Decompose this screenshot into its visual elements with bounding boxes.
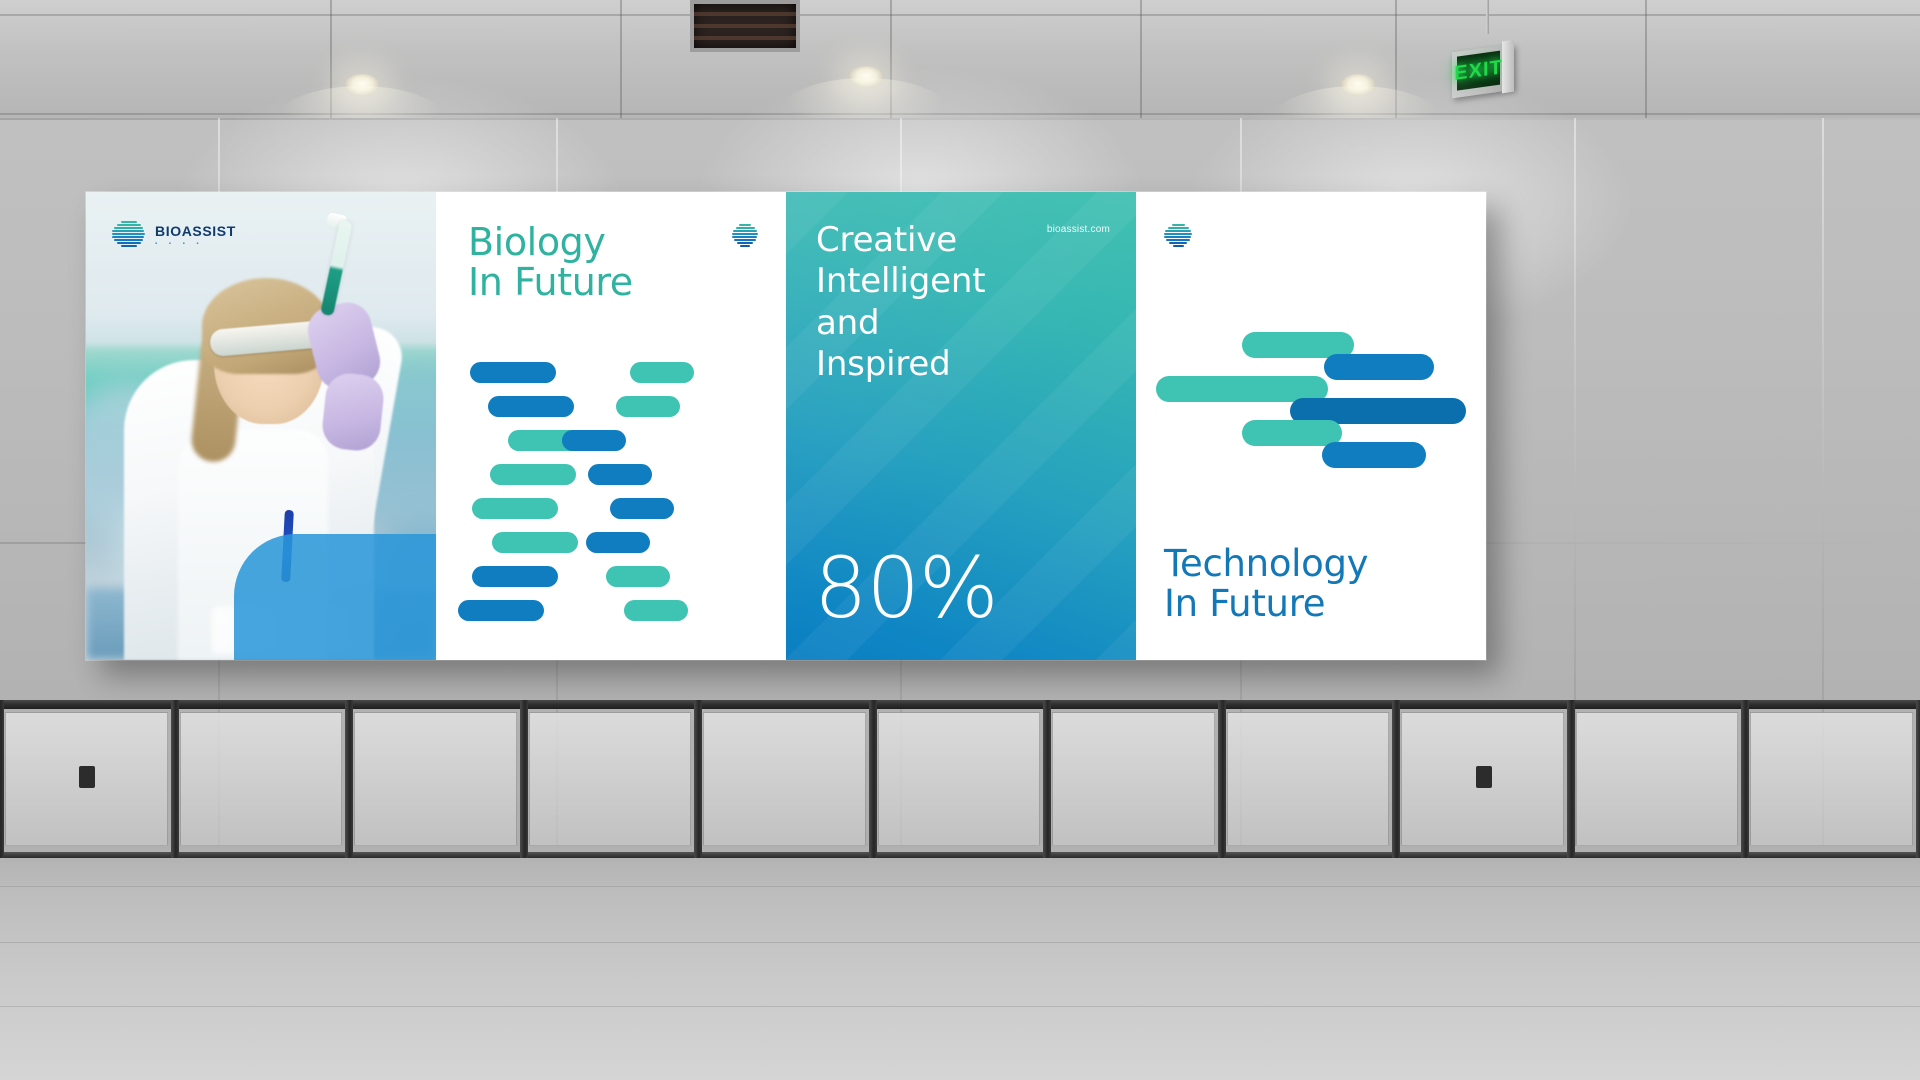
billboard[interactable]: BIOASSIST ▪ ▪ ▪ ▪ Biology In Future	[86, 192, 1486, 660]
railing-glass-panel	[354, 712, 517, 846]
railing-glass-panel	[1576, 712, 1739, 846]
railing-glass-panel	[878, 712, 1041, 846]
chart-bar	[472, 566, 558, 587]
chart-bar	[624, 600, 688, 621]
statement-heading: Creative Intelligent and Inspired	[816, 220, 985, 386]
chart-bar	[490, 464, 576, 485]
railing-post	[694, 700, 702, 858]
biology-heading-line2: In Future	[468, 262, 633, 302]
railing-glass-panel	[703, 712, 866, 846]
billboard-panel-biology[interactable]: Biology In Future	[436, 192, 786, 660]
technology-heading-line2: In Future	[1164, 584, 1368, 624]
railing-post	[869, 700, 877, 858]
chart-bar	[562, 430, 626, 451]
dna-gel-bars	[458, 362, 758, 634]
ceiling	[0, 0, 1920, 120]
billboard-panel-statement[interactable]: Creative Intelligent and Inspired bioass…	[786, 192, 1136, 660]
statement-line4: Inspired	[816, 344, 985, 385]
technology-bars	[1156, 332, 1466, 452]
railing-post	[1741, 700, 1749, 858]
railing-post	[1916, 700, 1920, 858]
chart-bar	[606, 566, 670, 587]
floor	[0, 846, 1920, 1080]
statement-line3: and	[816, 303, 985, 344]
bioassist-mark-icon	[732, 224, 758, 248]
biology-heading: Biology In Future	[468, 222, 633, 303]
chart-bar	[588, 464, 652, 485]
blue-accent-shape	[234, 534, 436, 660]
exit-sign-bracket	[1502, 40, 1514, 94]
railing-post	[1218, 700, 1226, 858]
railing-post	[520, 700, 528, 858]
scene-root: EXIT	[0, 0, 1920, 1080]
exit-sign: EXIT	[1452, 44, 1514, 99]
chart-bar	[616, 396, 680, 417]
railing-bottom-bar	[0, 852, 1920, 858]
chart-bar	[630, 362, 694, 383]
statement-line1: Creative	[816, 220, 985, 261]
ceiling-downlight	[848, 66, 884, 88]
railing-post	[345, 700, 353, 858]
ceiling-downlight	[1340, 74, 1376, 96]
railing-post	[1392, 700, 1400, 858]
billboard-panel-technology[interactable]: Technology In Future	[1136, 192, 1486, 660]
stat-percentage: 80%	[814, 546, 998, 630]
bioassist-mark-icon	[1164, 224, 1192, 250]
chart-bar	[586, 532, 650, 553]
gloved-hand-lower	[320, 371, 386, 453]
railing-glass-panel	[1227, 712, 1390, 846]
bioassist-sphere-logo	[112, 220, 146, 250]
railing-plate	[79, 766, 95, 788]
chart-bar	[458, 600, 544, 621]
logo-subtext: ▪ ▪ ▪ ▪	[155, 241, 236, 247]
chart-bar	[1324, 354, 1434, 380]
biology-heading-line1: Biology	[468, 222, 633, 262]
railing	[0, 700, 1920, 870]
exit-sign-label: EXIT	[1454, 56, 1502, 86]
ceiling-downlight	[344, 74, 380, 96]
chart-bar	[1242, 420, 1342, 446]
chart-bar	[472, 498, 558, 519]
railing-top-bar	[0, 700, 1920, 709]
railing-plate	[1476, 766, 1492, 788]
chart-bar	[470, 362, 556, 383]
bioassist-logo[interactable]: BIOASSIST ▪ ▪ ▪ ▪	[112, 220, 236, 250]
railing-glass-panel	[180, 712, 343, 846]
chart-bar	[1322, 442, 1426, 468]
technology-heading: Technology In Future	[1164, 544, 1368, 624]
railing-post	[171, 700, 179, 858]
railing-post	[1043, 700, 1051, 858]
railing-post	[1567, 700, 1575, 858]
exit-sign-face: EXIT	[1457, 51, 1500, 91]
exit-sign-rod	[1486, 0, 1489, 34]
statement-line2: Intelligent	[816, 261, 985, 302]
technology-heading-line1: Technology	[1164, 544, 1368, 584]
website-url[interactable]: bioassist.com	[1047, 224, 1110, 235]
railing-glass-panel	[1052, 712, 1215, 846]
chart-bar	[492, 532, 578, 553]
chart-bar	[488, 396, 574, 417]
railing-glass-panel	[1750, 712, 1913, 846]
chart-bar	[610, 498, 674, 519]
billboard-panel-photo[interactable]: BIOASSIST ▪ ▪ ▪ ▪	[86, 192, 436, 660]
railing-glass-panel	[529, 712, 692, 846]
railing-post	[0, 700, 4, 858]
logo-wordmark: BIOASSIST	[155, 224, 236, 238]
ceiling-vent	[690, 0, 800, 52]
